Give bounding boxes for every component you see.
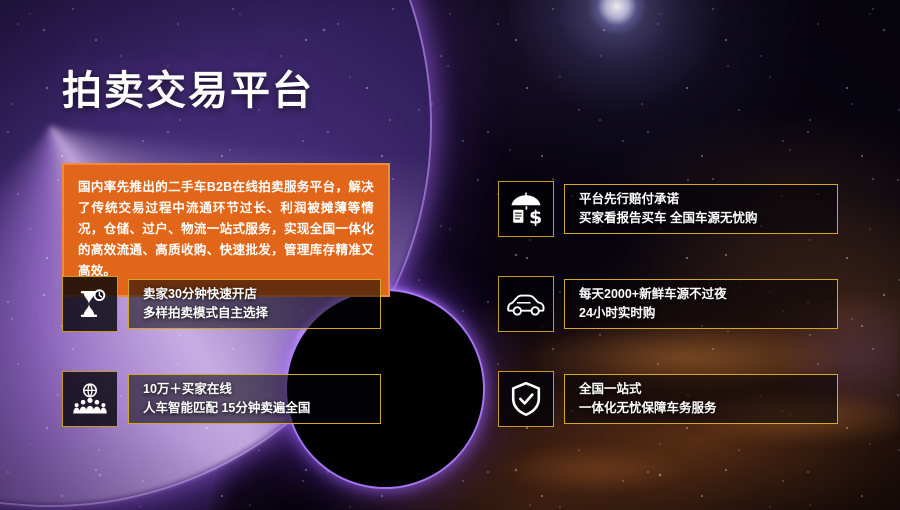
feature-card-one-stop-service[interactable]: 全国一站式 一体化无忧保障车务服务 bbox=[498, 371, 838, 427]
feature-card-advance-compensation[interactable]: $ 平台先行赔付承诺 买家看报告买车 全国车源无忧购 bbox=[498, 181, 838, 237]
feature-line-2: 买家看报告买车 全国车源无忧购 bbox=[579, 209, 837, 228]
feature-line-1: 卖家30分钟快速开店 bbox=[143, 285, 380, 304]
feature-line-2: 一体化无忧保障车务服务 bbox=[579, 399, 837, 418]
shield-check-icon bbox=[498, 371, 554, 427]
feature-line-1: 平台先行赔付承诺 bbox=[579, 190, 837, 209]
feature-line-1: 10万＋买家在线 bbox=[143, 380, 380, 399]
page-title: 拍卖交易平台 bbox=[62, 58, 314, 116]
svg-text:$: $ bbox=[529, 206, 542, 226]
feature-text-box: 平台先行赔付承诺 买家看报告买车 全国车源无忧购 bbox=[564, 184, 838, 234]
feature-line-1: 全国一站式 bbox=[579, 380, 837, 399]
feature-line-2: 24小时实时购 bbox=[579, 304, 837, 323]
feature-card-fresh-inventory[interactable]: 每天2000+新鲜车源不过夜 24小时实时购 bbox=[498, 276, 838, 332]
feature-card-buyers-online[interactable]: 10万＋买家在线 人车智能匹配 15分钟卖遍全国 bbox=[62, 371, 381, 427]
feature-line-1: 每天2000+新鲜车源不过夜 bbox=[579, 285, 837, 304]
hourglass-clock-icon bbox=[62, 276, 118, 332]
feature-text-box: 10万＋买家在线 人车智能匹配 15分钟卖遍全国 bbox=[128, 374, 381, 424]
slide-content: 拍卖交易平台 国内率先推出的二手车B2B在线拍卖服务平台，解决了传统交易过程中流… bbox=[0, 0, 900, 510]
car-icon bbox=[498, 276, 554, 332]
feature-text-box: 卖家30分钟快速开店 多样拍卖模式自主选择 bbox=[128, 279, 381, 329]
feature-text-box: 每天2000+新鲜车源不过夜 24小时实时购 bbox=[564, 279, 838, 329]
globe-crowd-icon bbox=[62, 371, 118, 427]
slide-canvas: 拍卖交易平台 国内率先推出的二手车B2B在线拍卖服务平台，解决了传统交易过程中流… bbox=[0, 0, 900, 510]
feature-line-2: 多样拍卖模式自主选择 bbox=[143, 304, 380, 323]
feature-text-box: 全国一站式 一体化无忧保障车务服务 bbox=[564, 374, 838, 424]
feature-line-2: 人车智能匹配 15分钟卖遍全国 bbox=[143, 399, 380, 418]
feature-card-seller-store[interactable]: 卖家30分钟快速开店 多样拍卖模式自主选择 bbox=[62, 276, 381, 332]
umbrella-document-dollar-icon: $ bbox=[498, 181, 554, 237]
